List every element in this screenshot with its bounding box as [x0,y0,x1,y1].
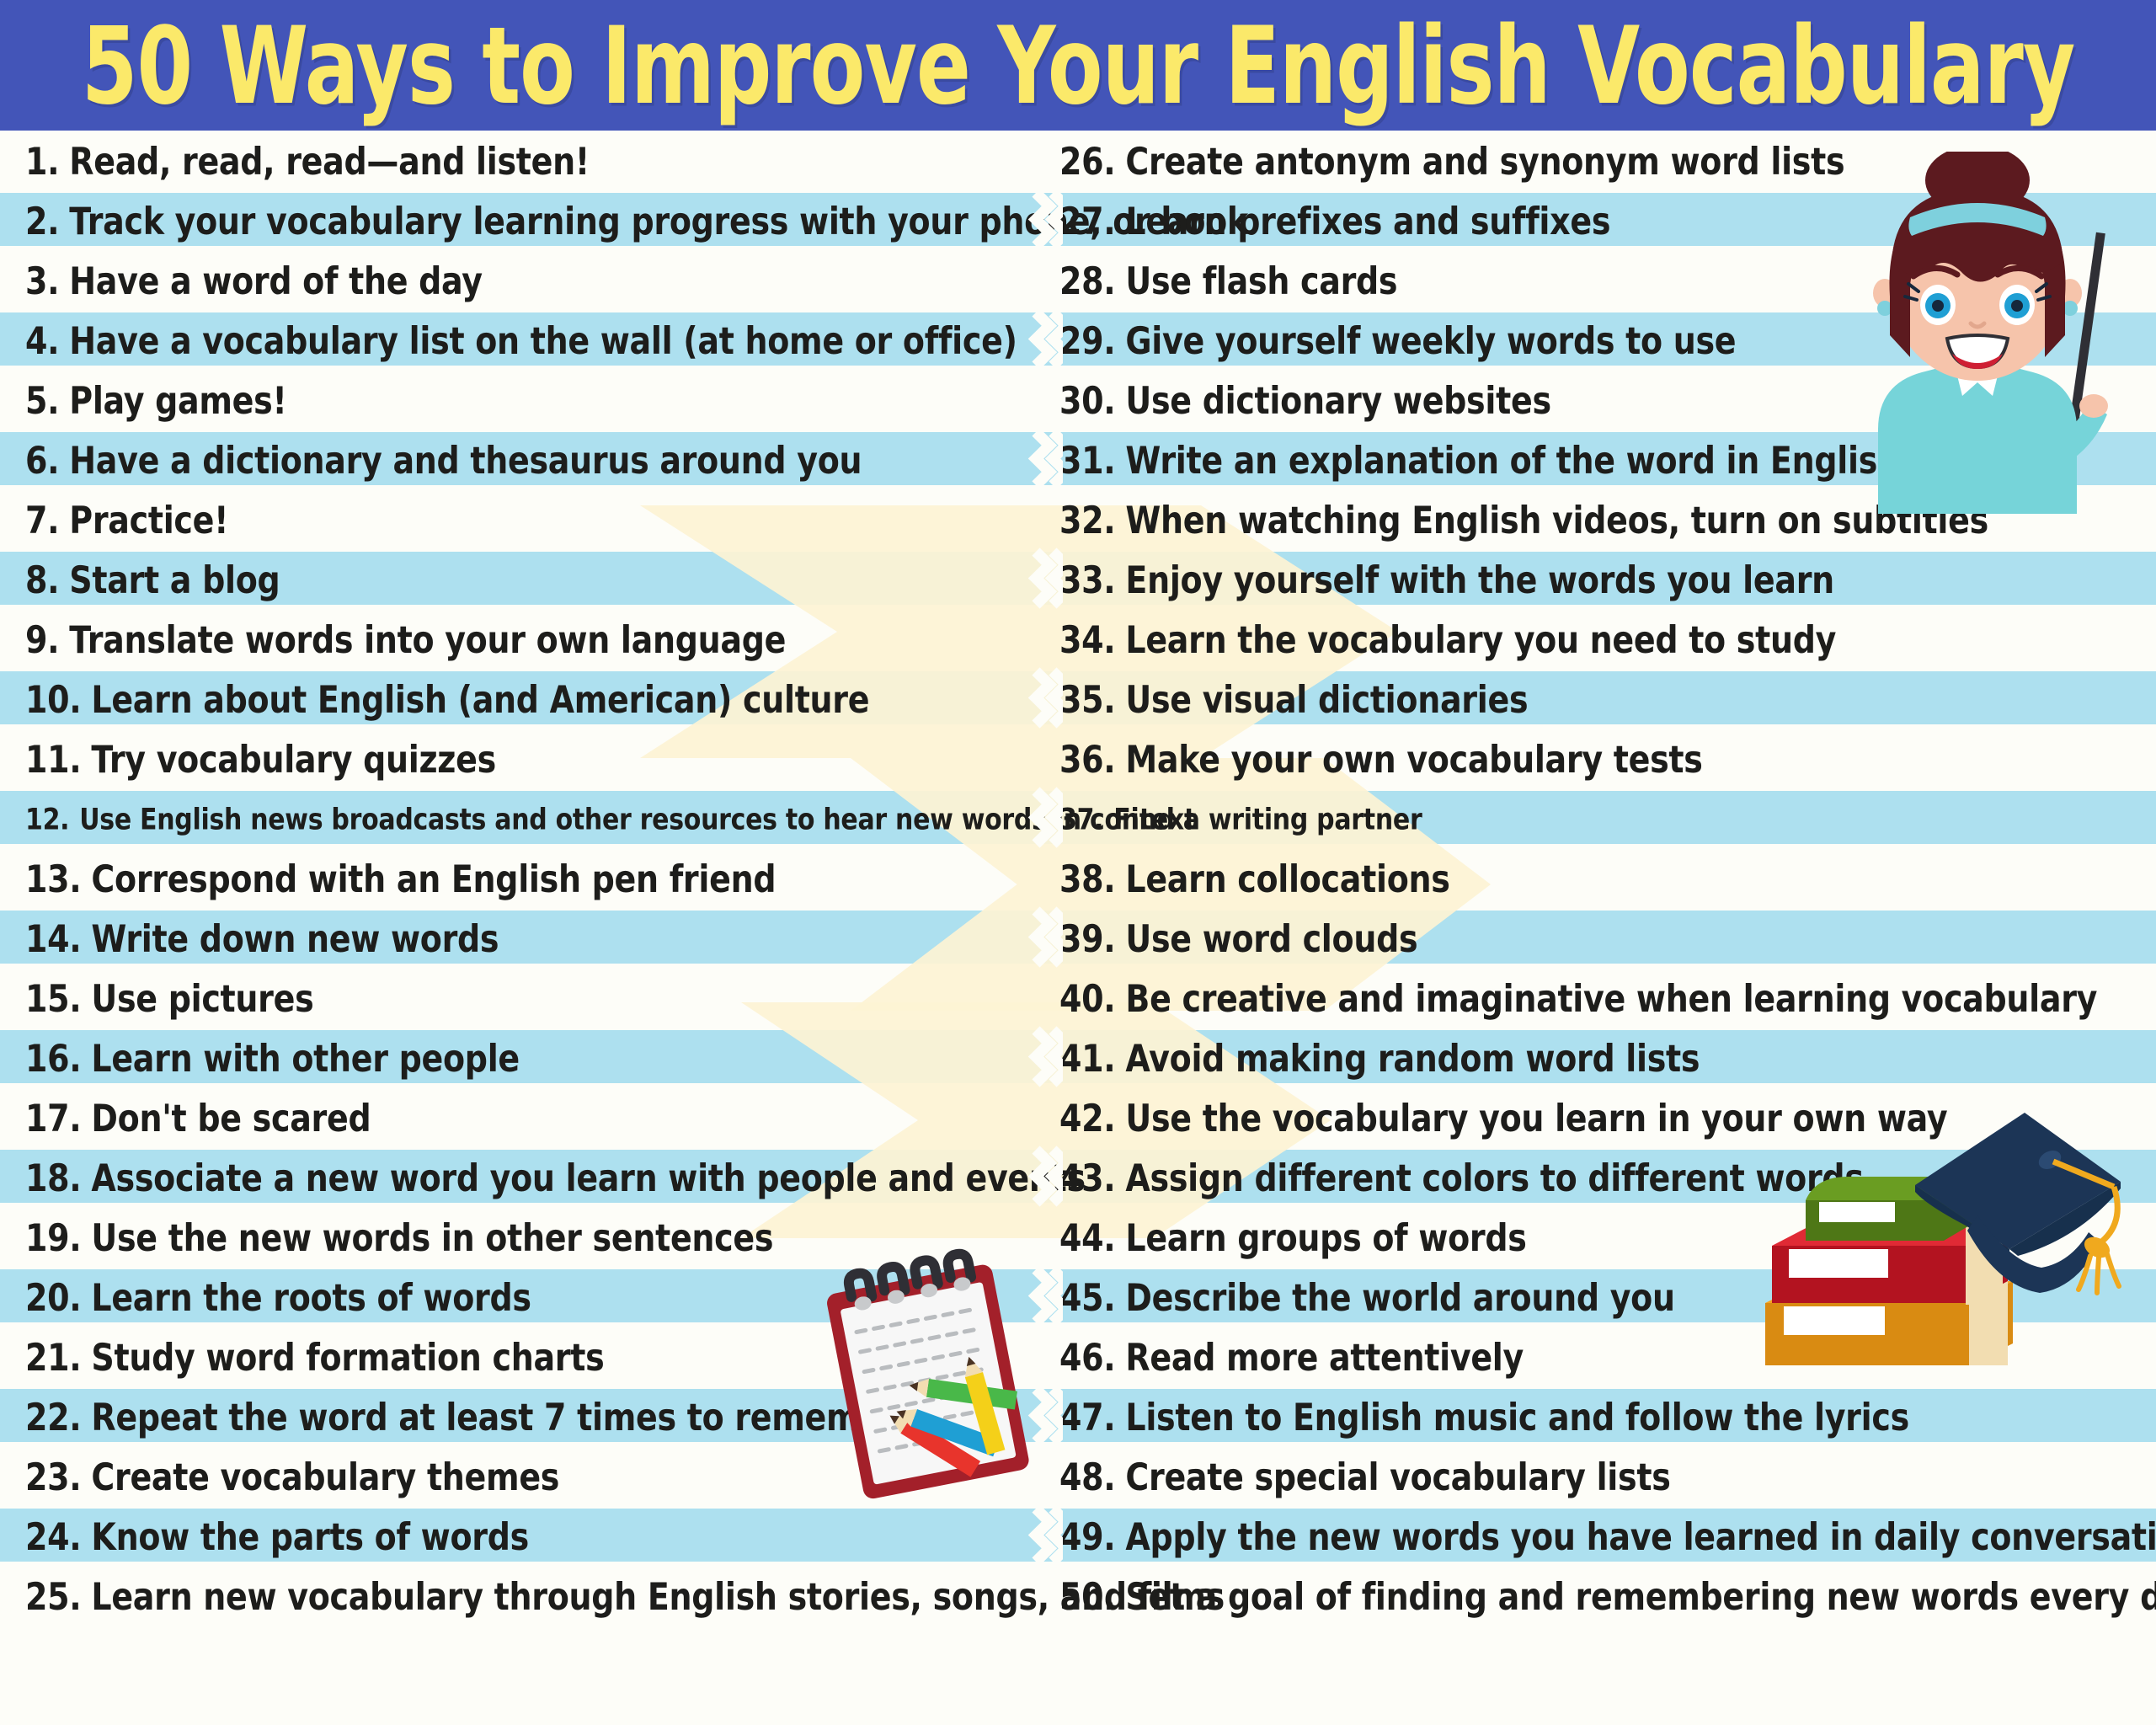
list-item-text: Create vocabulary themes [91,1455,559,1498]
list-item: 14.Write down new words [25,918,1027,959]
list-item-text: Enjoy yourself with the words you learn [1125,558,1833,601]
list-item-text: Give yourself weekly words to use [1125,319,1736,362]
list-item: 4.Have a vocabulary list on the wall (at… [25,320,1027,361]
list-item-number: 12. [25,803,69,837]
list-item: 10.Learn about English (and American) cu… [25,679,1027,720]
list-item: 36.Make your own vocabulary tests [1059,739,2129,780]
list-item: 49.Apply the new words you have learned … [1059,1516,2129,1557]
notepad-illustration [804,1242,1082,1529]
list-item-text: Use word clouds [1125,917,1417,960]
teacher-illustration [1826,152,2129,514]
list-item: 38.Learn collocations [1059,858,2129,900]
list-item-number: 29. [1059,319,1115,362]
list-item-number: 30. [1059,379,1115,422]
list-item-number: 23. [25,1455,81,1498]
list-item: 35.Use visual dictionaries [1059,679,2129,720]
list-item-text: Translate words into your own language [69,618,786,661]
list-item-text: Start a blog [69,558,280,601]
infographic-poster: 50 Ways to Improve Your English Vocabula… [0,0,2156,1725]
list-item-number: 6. [25,439,59,482]
list-item-number: 41. [1059,1037,1115,1080]
list-item-number: 37. [1059,803,1103,837]
list-item: 7.Practice! [25,499,1027,541]
list-item: 48.Create special vocabulary lists [1059,1456,2129,1498]
list-item-number: 15. [25,977,81,1020]
list-item: 50.Set a goal of finding and remembering… [1059,1576,2129,1617]
list-item-text: Use the new words in other sentences [91,1216,773,1259]
list-item: 5.Play games! [25,380,1027,421]
list-item-number: 5. [25,379,59,422]
list-item: 3.Have a word of the day [25,260,1027,302]
list-item-text: Write down new words [91,917,499,960]
list-item-number: 32. [1059,499,1115,542]
list-item-number: 11. [25,738,81,781]
list-item-text: Avoid making random word lists [1125,1037,1700,1080]
list-item-number: 42. [1059,1097,1115,1140]
list-item-number: 19. [25,1216,81,1259]
list-item-text: Create special vocabulary lists [1125,1455,1670,1498]
list-item: 9.Translate words into your own language [25,619,1027,660]
list-item-text: Learn the vocabulary you need to study [1125,618,1836,661]
list-item-text: Learn collocations [1125,857,1449,900]
list-item-number: 36. [1059,738,1115,781]
list-item: 34.Learn the vocabulary you need to stud… [1059,619,2129,660]
list-item-text: Use flash cards [1125,259,1397,302]
list-item: 2.Track your vocabulary learning progres… [25,200,1027,242]
list-item-number: 31. [1059,439,1115,482]
books-and-cap-illustration [1725,1074,2146,1402]
list-item-number: 17. [25,1097,81,1140]
list-item-number: 33. [1059,558,1115,601]
list-item-text: Learn the roots of words [91,1276,531,1319]
list-item-number: 8. [25,558,59,601]
list-item-number: 16. [25,1037,81,1080]
list-item-number: 35. [1059,678,1115,721]
page-title: 50 Ways to Improve Your English Vocabula… [82,12,2074,119]
list-item-number: 50. [1059,1575,1115,1618]
list-item-number: 22. [25,1396,81,1439]
list-item: 40.Be creative and imaginative when lear… [1059,978,2129,1019]
list-item: 6.Have a dictionary and thesaurus around… [25,440,1027,481]
list-item-number: 7. [25,499,59,542]
list-item-number: 43. [1059,1156,1115,1199]
list-item-text: Have a dictionary and thesaurus around y… [69,439,862,482]
list-item-number: 13. [25,857,81,900]
list-item-text: Describe the world around you [1125,1276,1674,1319]
list-item-number: 1. [25,140,59,183]
list-item: 16.Learn with other people [25,1038,1027,1079]
list-item-text: Use visual dictionaries [1125,678,1528,721]
list-item-number: 4. [25,319,59,362]
list-item-text: Learn groups of words [1125,1216,1526,1259]
list-item: 1.Read, read, read—and listen! [25,141,1027,182]
list-item-text: Know the parts of words [91,1515,529,1558]
list-item-text: Play games! [69,379,286,422]
list-item: 37.Find a writing partner [1059,798,2129,840]
list-item-text: Have a word of the day [69,259,482,302]
list-item: 25.Learn new vocabulary through English … [25,1576,1027,1617]
list-item-number: 26. [1059,140,1115,183]
list-item-text: Write an explanation of the word in Engl… [1125,439,1899,482]
list-item-number: 18. [25,1156,81,1199]
list-item-text: Make your own vocabulary tests [1125,738,1702,781]
list-item-number: 21. [25,1336,81,1379]
list-item-text: Use pictures [91,977,313,1020]
list-item: 47.Listen to English music and follow th… [1059,1397,2129,1438]
list-item-text: Learn about English (and American) cultu… [91,678,869,721]
list-item-number: 34. [1059,618,1115,661]
list-item: 12.Use English news broadcasts and other… [25,798,1027,840]
list-item-number: 25. [25,1575,81,1618]
list-item-text: Learn with other people [91,1037,519,1080]
list-item-text: Associate a new word you learn with peop… [91,1156,1085,1199]
list-item: 39.Use word clouds [1059,918,2129,959]
list-item-number: 2. [25,200,59,243]
list-item: 13.Correspond with an English pen friend [25,858,1027,900]
list-item-text: Read, read, read—and listen! [69,140,590,183]
list-item-text: Don't be scared [91,1097,371,1140]
list-item: 11.Try vocabulary quizzes [25,739,1027,780]
list-item-number: 3. [25,259,59,302]
list-item-number: 20. [25,1276,81,1319]
list-item-text: Apply the new words you have learned in … [1125,1515,2156,1558]
list-item-number: 27. [1059,200,1115,243]
list-item-text: Practice! [69,499,228,542]
list-item-text: Study word formation charts [91,1336,604,1379]
list-item-number: 40. [1059,977,1115,1020]
list-item-text: Find a writing partner [1113,803,1422,837]
list-item-text: Set a goal of finding and remembering ne… [1125,1575,2156,1618]
list-item-text: Try vocabulary quizzes [91,738,496,781]
list-item-number: 28. [1059,259,1115,302]
list-item-number: 10. [25,678,81,721]
list-item-text: Use dictionary websites [1125,379,1550,422]
header-banner: 50 Ways to Improve Your English Vocabula… [0,0,2156,131]
list-item: 33.Enjoy yourself with the words you lea… [1059,559,2129,601]
list-item-text: Create antonym and synonym word lists [1125,140,1844,183]
list-item-number: 38. [1059,857,1115,900]
list-item-number: 39. [1059,917,1115,960]
list-item: 8.Start a blog [25,559,1027,601]
list-item: 15.Use pictures [25,978,1027,1019]
list-item-number: 9. [25,618,59,661]
list-item-number: 24. [25,1515,81,1558]
list-item-text: Be creative and imaginative when learnin… [1125,977,2097,1020]
list-item-text: Listen to English music and follow the l… [1125,1396,1908,1439]
list-item-text: Learn prefixes and suffixes [1125,200,1610,243]
list-item-text: Have a vocabulary list on the wall (at h… [69,319,1017,362]
list-item-number: 14. [25,917,81,960]
list-item-text: Read more attentively [1125,1336,1524,1379]
list-item-text: Correspond with an English pen friend [91,857,776,900]
list-item: 17.Don't be scared [25,1097,1027,1139]
list-item: 18.Associate a new word you learn with p… [25,1157,1027,1199]
